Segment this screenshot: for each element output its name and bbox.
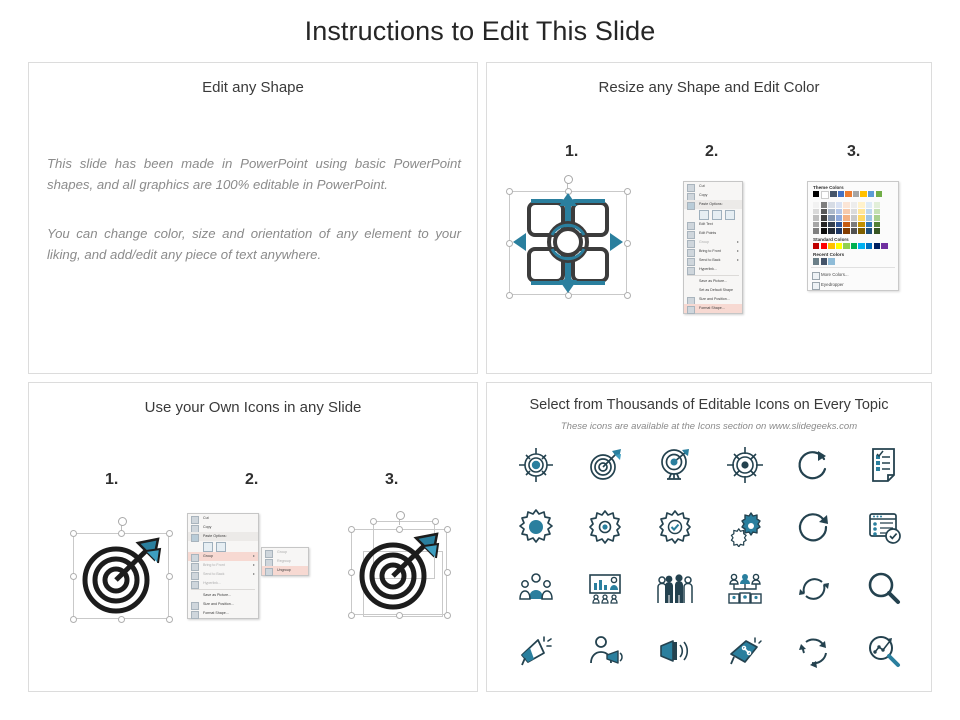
- icon-team-group[interactable]: [640, 565, 710, 613]
- panel-heading-editable-icons: Select from Thousands of Editable Icons …: [487, 397, 931, 413]
- speaker-sound-icon: [655, 631, 695, 671]
- menu-item-format-shape[interactable]: Format Shape...: [684, 304, 742, 313]
- menu-divider: [687, 275, 739, 276]
- menu-item-edit-points[interactable]: Edit Points: [684, 229, 742, 238]
- grouped-target-preview[interactable]: [71, 523, 175, 623]
- paste-keep-formatting-icon[interactable]: [203, 542, 213, 552]
- submenu-item-regroup: Regroup: [262, 557, 308, 566]
- gear-outline-icon: [585, 507, 625, 547]
- panel-use-own-icons: Use your Own Icons in any Slide 1. 2. 3.…: [28, 382, 478, 692]
- menu-item-copy[interactable]: Copy: [188, 523, 258, 532]
- icon-gear-filled[interactable]: [501, 503, 571, 551]
- icon-presentation-audience[interactable]: [571, 565, 641, 613]
- menu-item-cut[interactable]: Cut: [684, 182, 742, 191]
- paste-icon: [687, 202, 695, 210]
- magnifier-chart-icon: [864, 631, 904, 671]
- submenu-item-group: Group: [262, 548, 308, 557]
- swatch[interactable]: [876, 191, 882, 197]
- swatch[interactable]: [860, 191, 866, 197]
- paste-option-buttons[interactable]: [188, 541, 258, 552]
- swatch[interactable]: [851, 243, 857, 249]
- swatch[interactable]: [838, 191, 844, 197]
- menu-item-bring-to-front[interactable]: Bring to Front: [684, 247, 742, 256]
- icon-megaphone[interactable]: [501, 627, 571, 675]
- swatch[interactable]: [853, 191, 859, 197]
- paste-icon: [191, 534, 199, 542]
- icon-person-announce[interactable]: [571, 627, 641, 675]
- gear-check-icon: [655, 507, 695, 547]
- paste-picture-icon[interactable]: [712, 210, 722, 220]
- theme-tint-row-2[interactable]: [808, 209, 898, 215]
- swatch[interactable]: [866, 243, 872, 249]
- icon-target-stand[interactable]: [640, 441, 710, 489]
- swatch[interactable]: [821, 258, 827, 264]
- format-shape-icon: [191, 611, 199, 619]
- theme-colors-row[interactable]: [808, 191, 898, 199]
- theme-colors-label: Theme Colors: [808, 182, 898, 191]
- target-crosshair-icon: [516, 445, 556, 485]
- color-picker-dropdown[interactable]: Theme Colors: [807, 181, 899, 291]
- standard-colors-row[interactable]: [808, 243, 898, 249]
- team-network-icon: [725, 569, 765, 609]
- icon-gallery-grid: [501, 441, 919, 675]
- chevron-right-icon: [737, 259, 739, 261]
- slide-canvas: Instructions to Edit This Slide Edit any…: [0, 0, 960, 720]
- recent-colors-row[interactable]: [808, 258, 898, 264]
- swatch[interactable]: [881, 243, 887, 249]
- icon-refresh-arrow[interactable]: [780, 503, 850, 551]
- menu-item-bring-to-front: Bring to Front: [188, 561, 258, 570]
- swatch[interactable]: [828, 258, 834, 264]
- chevron-right-icon: [253, 564, 255, 566]
- four-square-hub-icon: [509, 191, 627, 295]
- sync-arrows-icon: [794, 569, 834, 609]
- icon-rotate-clockwise[interactable]: [780, 441, 850, 489]
- context-menu-format-shape[interactable]: Cut Copy Paste Options: Edit Text Edit P…: [683, 181, 743, 314]
- menu-item-format-shape[interactable]: Format Shape...: [188, 609, 258, 618]
- swatch[interactable]: [813, 258, 819, 264]
- icon-team-leader[interactable]: [501, 565, 571, 613]
- step-number-2: 2.: [705, 143, 718, 161]
- ungrouped-target-preview[interactable]: [347, 517, 457, 623]
- menu-item-send-to-back: Send to Back: [188, 570, 258, 579]
- swatch[interactable]: [813, 243, 819, 249]
- menu-divider: [191, 589, 255, 590]
- team-group-icon: [655, 569, 695, 609]
- icon-sync-arrows[interactable]: [780, 565, 850, 613]
- megaphone-percent-icon: [725, 631, 765, 671]
- swatch[interactable]: [845, 191, 851, 197]
- icon-crosshair-scope[interactable]: [710, 441, 780, 489]
- paste-picture-icon[interactable]: [216, 542, 226, 552]
- person-announce-icon: [585, 631, 625, 671]
- paste-text-icon[interactable]: [725, 210, 735, 220]
- context-menu-group[interactable]: Cut Copy Paste Options: Group Bring to F…: [187, 513, 259, 619]
- checklist-document-icon: [864, 445, 904, 485]
- swatch[interactable]: [858, 243, 864, 249]
- icon-checklist-approved[interactable]: [849, 503, 919, 551]
- menu-item-send-to-back[interactable]: Send to Back: [684, 256, 742, 265]
- icon-megaphone-percent[interactable]: [710, 627, 780, 675]
- hyperlink-icon: [191, 581, 199, 589]
- icon-team-network[interactable]: [710, 565, 780, 613]
- gears-pair-icon: [725, 507, 765, 547]
- icon-target-crosshair[interactable]: [501, 441, 571, 489]
- menu-item-hyperlink[interactable]: Hyperlink...: [684, 265, 742, 274]
- panel-heading-resize-shape: Resize any Shape and Edit Color: [487, 79, 931, 96]
- body-paragraph-1: This slide has been made in PowerPoint u…: [47, 153, 461, 195]
- team-leader-icon: [516, 569, 556, 609]
- theme-tint-row-4[interactable]: [808, 222, 898, 228]
- target-stand-icon: [655, 445, 695, 485]
- paste-keep-formatting-icon[interactable]: [699, 210, 709, 220]
- theme-tint-row-3[interactable]: [808, 215, 898, 221]
- panel-edit-any-shape: Edit any Shape This slide has been made …: [28, 62, 478, 374]
- refresh-arrow-icon: [794, 507, 834, 547]
- icon-checklist-document[interactable]: [849, 441, 919, 489]
- menu-item-hyperlink: Hyperlink...: [188, 579, 258, 588]
- swatch[interactable]: [813, 191, 819, 197]
- panel-heading-edit-shape: Edit any Shape: [29, 79, 477, 96]
- panel-resize-shape-edit-color: Resize any Shape and Edit Color 1. 2. 3.: [486, 62, 932, 374]
- panel-editable-icons: Select from Thousands of Editable Icons …: [486, 382, 932, 692]
- selected-shape-preview[interactable]: [509, 181, 629, 301]
- ungroup-icon: [265, 568, 273, 576]
- standard-colors-label: Standard Colors: [808, 234, 898, 243]
- chevron-right-icon: [253, 573, 255, 575]
- hyperlink-icon: [687, 267, 695, 275]
- magnifier-icon: [864, 569, 904, 609]
- chevron-right-icon: [253, 555, 255, 557]
- step-number-3: 3.: [385, 471, 398, 489]
- panel-heading-own-icons: Use your Own Icons in any Slide: [29, 399, 477, 416]
- menu-item-edit-text[interactable]: Edit Text: [684, 220, 742, 229]
- menu-item-group: Group: [684, 238, 742, 247]
- recycle-arrows-icon: [794, 631, 834, 671]
- dart-target-icon: [353, 530, 445, 614]
- picker-divider: [811, 267, 895, 268]
- icon-recycle-arrows[interactable]: [780, 627, 850, 675]
- rotate-clockwise-icon: [794, 445, 834, 485]
- menu-item-copy[interactable]: Copy: [684, 191, 742, 200]
- format-shape-icon: [687, 306, 695, 314]
- step-number-2: 2.: [245, 471, 258, 489]
- swatch[interactable]: [874, 243, 880, 249]
- swatch[interactable]: [821, 243, 827, 249]
- icon-magnifier[interactable]: [849, 565, 919, 613]
- menu-item-size-and-position[interactable]: Size and Position...: [684, 295, 742, 304]
- menu-item-save-as-picture[interactable]: Save as Picture...: [188, 591, 258, 600]
- menu-item-paste-options: Paste Options:: [188, 532, 258, 541]
- menu-item-size-and-position[interactable]: Size and Position...: [188, 600, 258, 609]
- presentation-audience-icon: [585, 569, 625, 609]
- page-title: Instructions to Edit This Slide: [0, 16, 960, 47]
- eyedropper-icon: [812, 282, 820, 290]
- icon-speaker-sound[interactable]: [640, 627, 710, 675]
- recent-colors-label: Recent Colors: [808, 249, 898, 258]
- step-number-1: 1.: [565, 143, 578, 161]
- theme-tint-row-1[interactable]: [808, 202, 898, 208]
- chevron-right-icon: [737, 241, 739, 243]
- gear-filled-icon: [516, 507, 556, 547]
- menu-item-set-default-shape[interactable]: Set as Default Shape: [684, 286, 742, 295]
- checklist-approved-icon: [864, 507, 904, 547]
- swatch[interactable]: [830, 191, 836, 197]
- icon-gears-pair[interactable]: [710, 503, 780, 551]
- menu-item-cut[interactable]: Cut: [188, 514, 258, 523]
- paste-option-buttons[interactable]: [684, 209, 742, 220]
- icon-magnifier-chart[interactable]: [849, 627, 919, 675]
- body-paragraph-2: You can change color, size and orientati…: [47, 223, 461, 265]
- dart-target-icon: [76, 535, 166, 617]
- crosshair-scope-icon: [725, 445, 765, 485]
- swatch[interactable]: [821, 191, 829, 199]
- icon-gear-outline[interactable]: [571, 503, 641, 551]
- swatch[interactable]: [868, 191, 874, 197]
- eyedropper-button[interactable]: Eyedropper: [808, 280, 898, 290]
- more-colors-button[interactable]: More Colors...: [808, 270, 898, 280]
- swatch[interactable]: [836, 243, 842, 249]
- swatch[interactable]: [828, 243, 834, 249]
- submenu-item-ungroup[interactable]: Ungroup: [262, 566, 308, 575]
- menu-item-group[interactable]: Group: [188, 552, 258, 561]
- panel-subheading-icons-source: These icons are available at the Icons s…: [487, 421, 931, 432]
- step-number-1: 1.: [105, 471, 118, 489]
- step-number-3: 3.: [847, 143, 860, 161]
- megaphone-icon: [516, 631, 556, 671]
- chevron-right-icon: [737, 250, 739, 252]
- swatch[interactable]: [843, 243, 849, 249]
- icon-dart-target[interactable]: [571, 441, 641, 489]
- submenu-group[interactable]: Group Regroup Ungroup: [261, 547, 309, 576]
- menu-item-paste-options: Paste Options:: [684, 200, 742, 209]
- dart-target-icon: [585, 445, 625, 485]
- icon-gear-check[interactable]: [640, 503, 710, 551]
- menu-item-save-as-picture[interactable]: Save as Picture...: [684, 277, 742, 286]
